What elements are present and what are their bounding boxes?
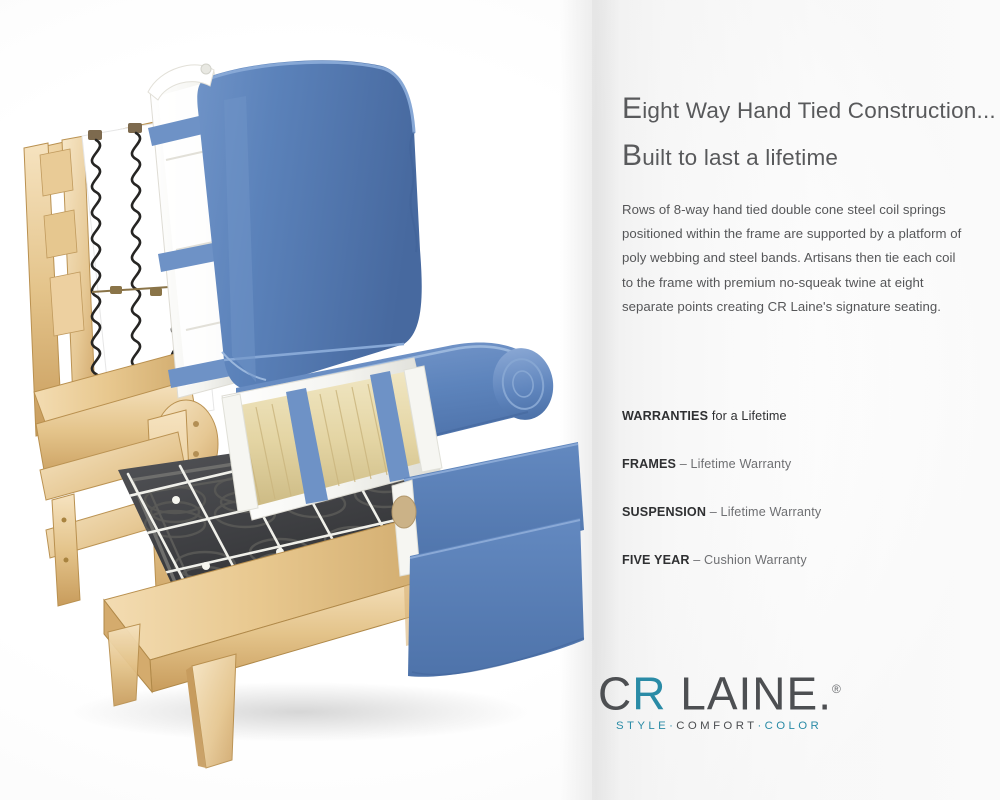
warranties-list: WARRANTIES for a Lifetime FRAMES – Lifet… <box>622 408 962 568</box>
body-paragraph: Rows of 8-way hand tied double cone stee… <box>622 198 962 319</box>
logo-tagline: STYLE·COMFORT·COLOR <box>598 720 838 732</box>
warranty-description: – Lifetime Warranty <box>706 505 821 519</box>
warranty-term: SUSPENSION <box>622 505 706 519</box>
warranty-term: FIVE YEAR <box>622 553 690 567</box>
logo-letters-laine: LAINE <box>666 667 818 719</box>
headline-dropcap-2: B <box>622 139 642 172</box>
tagline-color: COLOR <box>765 720 823 732</box>
registered-trademark-icon: ® <box>832 682 841 696</box>
warranty-term: WARRANTIES <box>622 409 708 423</box>
tagline-comfort: COMFORT <box>676 720 757 732</box>
warranty-term: FRAMES <box>622 457 676 471</box>
poster-page: Eight Way Hand Tied Construction... Buil… <box>0 0 1000 800</box>
headline-block: Eight Way Hand Tied Construction... Buil… <box>622 86 992 180</box>
logo-letter-r: R <box>632 667 666 719</box>
warranty-description: for a Lifetime <box>708 409 787 423</box>
logo-letter-c: C <box>598 667 632 719</box>
warranty-description: – Lifetime Warranty <box>676 457 791 471</box>
headline-line-1: Eight Way Hand Tied Construction... <box>622 86 992 133</box>
headline-dropcap-1: E <box>622 92 642 125</box>
headline-line-2: Built to last a lifetime <box>622 133 992 180</box>
tagline-dot-icon: · <box>757 720 764 732</box>
warranty-row-five-year: FIVE YEAR – Cushion Warranty <box>622 552 962 568</box>
logo-wordmark: CR LAINE.® <box>598 665 838 717</box>
warranty-description: – Cushion Warranty <box>690 553 807 567</box>
headline-text-1: ight Way Hand Tied Construction... <box>642 98 996 123</box>
warranty-row-suspension: SUSPENSION – Lifetime Warranty <box>622 504 962 520</box>
warranty-row-warranties: WARRANTIES for a Lifetime <box>622 408 962 424</box>
cr-laine-logo: CR LAINE.® STYLE·COMFORT·COLOR <box>598 665 838 735</box>
warranty-row-frames: FRAMES – Lifetime Warranty <box>622 456 962 472</box>
headline-text-2: uilt to last a lifetime <box>642 145 838 170</box>
tagline-style: STYLE <box>616 720 669 732</box>
logo-period: . <box>818 667 832 719</box>
